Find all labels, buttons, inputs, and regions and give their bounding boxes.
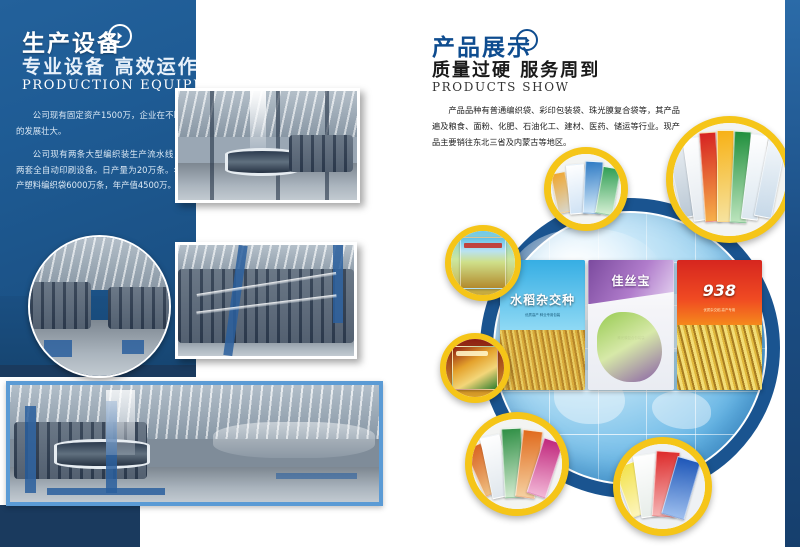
- seed938-bag-sub: 优质杂交稻 高产专用: [677, 307, 762, 312]
- right-body-text: 产品品种有普通编织袋、彩印包装袋、珠光膜复合袋等，其产品遍及粮食、面粉、化肥、石…: [432, 103, 680, 151]
- seed938-bag-label: 938: [677, 281, 762, 300]
- left-paragraph-1: 公司现有固定资产1500万，企业在不断的发展壮大。: [16, 108, 182, 139]
- brochure-spread: 生产设备 专业设备 高效运作 PRODUCTION EQUIPMENT 公司现有…: [0, 0, 800, 547]
- left-paragraph-2: 公司现有两条大型编织装生产流水线，两套全自动印刷设备。日产量为20万条。年产塑料…: [16, 147, 182, 194]
- left-blue-footer: [0, 505, 140, 547]
- pearl-film-composite-bag: 佳丝宝 珠光膜复合包装袋: [588, 260, 673, 390]
- right-page-title-en: PRODUCTS SHOW: [432, 80, 570, 94]
- arrow-right-circle-icon: [108, 24, 132, 48]
- rice-bag-sub: 优质高产 种业专用包装: [500, 312, 585, 317]
- product-circle-fertilizer-bags: [666, 116, 793, 243]
- product-circle-flour-bags: [465, 412, 569, 516]
- left-body-text: 公司现有固定资产1500万，企业在不断的发展壮大。 公司现有两条大型编织装生产流…: [16, 108, 182, 202]
- seed-938-bag: 938 优质杂交稻 高产专用: [677, 260, 762, 390]
- right-edge-blue-strip: [785, 0, 800, 547]
- product-circle-rice-bag: [445, 225, 521, 301]
- warping-machine-photo: [175, 242, 357, 359]
- pearl-bag-label: 佳丝宝: [588, 272, 673, 289]
- product-circle-corn-bag: [440, 333, 510, 403]
- left-page-subtitle: 专业设备 高效运作: [22, 52, 199, 79]
- front-product-bags: 水稻杂交种 优质高产 种业专用包装 佳丝宝 珠光膜复合包装袋 938 优质杂交稻…: [500, 250, 762, 390]
- product-circle-feed-bags: [544, 147, 628, 231]
- product-circle-woven-sacks: [613, 437, 712, 536]
- production-line-panorama-photo: [6, 381, 383, 506]
- weaving-hall-circle-photo: [28, 235, 171, 378]
- right-page-subtitle: 质量过硬 服务周到: [432, 56, 600, 82]
- arrow-right-circle-icon: [516, 29, 538, 51]
- right-paragraph-1: 产品品种有普通编织袋、彩印包装袋、珠光膜复合袋等，其产品遍及粮食、面粉、化肥、石…: [432, 103, 680, 151]
- circular-loom-workshop-photo: [175, 88, 360, 203]
